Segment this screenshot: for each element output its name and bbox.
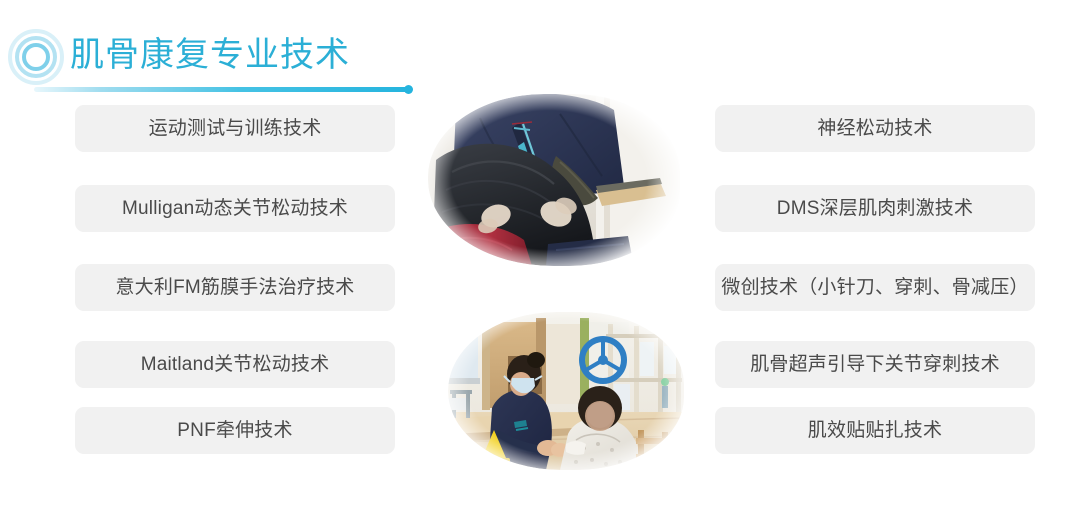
technique-label: 意大利FM筋膜手法治疗技术 (115, 276, 354, 300)
technique-pill[interactable]: 肌效贴贴扎技术 (715, 407, 1035, 454)
title-underline (34, 87, 410, 92)
technique-pill[interactable]: 微创技术（小针刀、穿刺、骨减压） (715, 264, 1035, 311)
technique-label: 肌骨超声引导下关节穿刺技术 (750, 353, 1000, 377)
technique-pill[interactable]: 神经松动技术 (715, 105, 1035, 152)
technique-pill[interactable]: 运动测试与训练技术 (75, 105, 395, 152)
technique-pill[interactable]: DMS深层肌肉刺激技术 (715, 185, 1035, 232)
slide-header: 肌骨康复专业技术 (0, 0, 1080, 100)
technique-label: 运动测试与训练技术 (149, 117, 322, 141)
title-underline-cap (404, 85, 413, 94)
technique-label: Mulligan动态关节松动技术 (122, 197, 348, 221)
therapy-photo-upper-limb-mobilization (428, 94, 680, 266)
technique-pill[interactable]: 意大利FM筋膜手法治疗技术 (75, 264, 395, 311)
ring-inner (22, 43, 50, 71)
technique-label: 神经松动技术 (817, 117, 932, 141)
technique-label: 微创技术（小针刀、穿刺、骨减压） (721, 276, 1028, 300)
technique-pill[interactable]: PNF牵伸技术 (75, 407, 395, 454)
concentric-circles-icon (8, 29, 64, 85)
technique-pill[interactable]: 肌骨超声引导下关节穿刺技术 (715, 341, 1035, 388)
technique-label: Maitland关节松动技术 (141, 353, 330, 377)
technique-pill[interactable]: Maitland关节松动技术 (75, 341, 395, 388)
page-title: 肌骨康复专业技术 (70, 31, 350, 79)
technique-label: 肌效贴贴扎技术 (808, 419, 942, 443)
technique-pill[interactable]: Mulligan动态关节松动技术 (75, 185, 395, 232)
technique-label: DMS深层肌肉刺激技术 (777, 197, 973, 221)
therapy-photo-rehabilitation-room (448, 312, 684, 470)
technique-label: PNF牵伸技术 (177, 419, 292, 443)
